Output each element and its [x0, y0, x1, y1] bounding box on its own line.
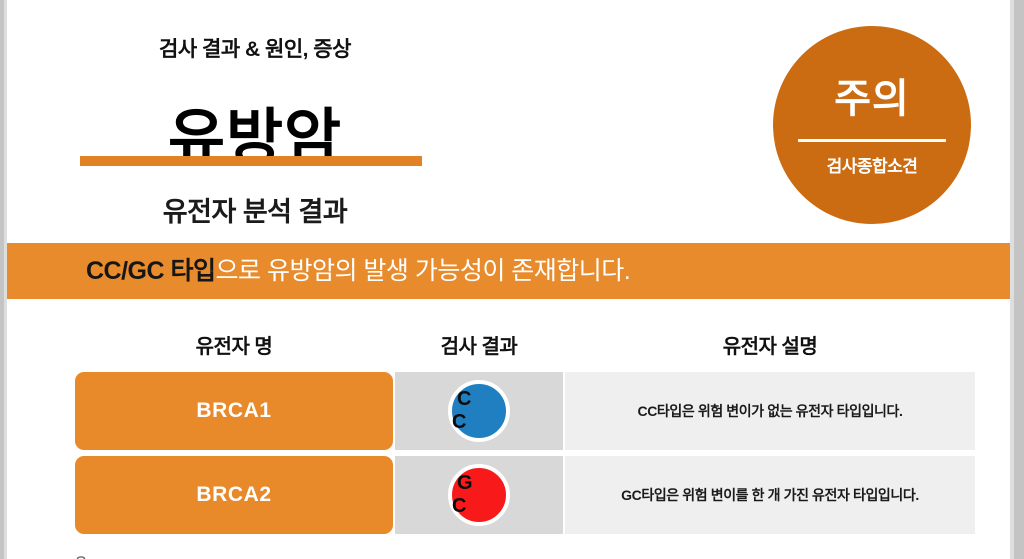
summary-banner-text: CC/GC 타입으로 유방암의 발생 가능성이 존재합니다. [86, 259, 630, 284]
table-header-row: 유전자 명 검사 결과 유전자 설명 [7, 330, 1010, 372]
gene-description-cell: GC타입은 위험 변이를 한 개 가진 유전자 타입입니다. [565, 456, 975, 534]
gene-name-cell: BRCA1 [75, 372, 393, 450]
header-eyebrow: 검사 결과 & 원인, 증상 [80, 33, 430, 63]
allele-circle-icon: G C [448, 464, 510, 526]
gene-description-cell: CC타입은 위험 변이가 없는 유전자 타입입니다. [565, 372, 975, 450]
verdict-seal-badge: 주의 검사종합소견 [773, 26, 971, 224]
seal-subtitle: 검사종합소견 [827, 152, 918, 177]
report-page: 검사 결과 & 원인, 증상 유방암 유전자 분석 결과 주의 검사종합소견 C… [7, 0, 1010, 559]
gene-description-text: CC타입은 위험 변이가 없는 유전자 타입입니다. [638, 401, 903, 421]
clipped-footer-fragment: 유 [75, 552, 87, 559]
allele-text: C C [452, 388, 506, 434]
gene-name-label: BRCA1 [196, 399, 271, 423]
column-header-description: 유전자 설명 [565, 330, 975, 359]
column-header-result: 검사 결과 [395, 330, 563, 359]
table-row: BRCA1 C C CC타입은 위험 변이가 없는 유전자 타입입니다. [7, 372, 1010, 450]
table-row: BRCA2 G C GC타입은 위험 변이를 한 개 가진 유전자 타입입니다. [7, 456, 1010, 534]
seal-title: 주의 [834, 79, 910, 119]
header-subtitle: 유전자 분석 결과 [80, 190, 430, 229]
summary-banner: CC/GC 타입으로 유방암의 발생 가능성이 존재합니다. [7, 243, 1010, 299]
summary-banner-message: 으로 유방암의 발생 가능성이 존재합니다. [216, 257, 631, 285]
seal-divider [798, 139, 946, 142]
gene-name-label: BRCA2 [196, 483, 271, 507]
gene-name-cell: BRCA2 [75, 456, 393, 534]
document-viewport: 검사 결과 & 원인, 증상 유방암 유전자 분석 결과 주의 검사종합소견 C… [0, 0, 1024, 559]
gene-result-cell: C C [395, 372, 563, 450]
column-header-gene: 유전자 명 [75, 330, 393, 359]
gene-results-table: 유전자 명 검사 결과 유전자 설명 BRCA1 C C CC타입은 위험 변이… [7, 330, 1010, 540]
gene-description-text: GC타입은 위험 변이를 한 개 가진 유전자 타입입니다. [621, 485, 919, 505]
allele-circle-icon: C C [448, 380, 510, 442]
gene-result-cell: G C [395, 456, 563, 534]
allele-text: G C [452, 472, 506, 518]
report-header: 검사 결과 & 원인, 증상 유방암 유전자 분석 결과 주의 검사종합소견 [7, 0, 1010, 238]
summary-banner-genotype: CC/GC 타입 [86, 257, 216, 285]
title-underline-rule [80, 156, 422, 166]
